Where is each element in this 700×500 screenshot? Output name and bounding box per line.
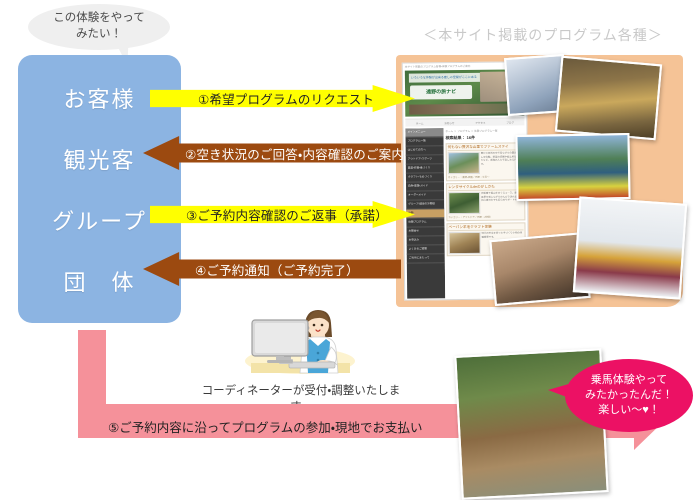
sidebar-item-apply[interactable]: お申込み [407, 236, 445, 245]
sidebar-item-ordermade[interactable]: オーダーメイド [406, 191, 444, 200]
arrow-step-3: ③ご予約内容確認のご返事（承諾） [150, 201, 415, 228]
program-card-thumbnail [448, 152, 480, 174]
customer-label-group: グループ [52, 211, 147, 233]
sidebar-item-contact[interactable]: お問合せ [406, 227, 444, 236]
website-nav-item-access[interactable]: アクセス [475, 120, 485, 124]
arrow-step-2-shape [143, 136, 401, 170]
program-card-thumbnail [449, 232, 481, 254]
joy-speech-bubble: 乗馬体験やって みたかったんだ！ 楽しい〜♥！ [565, 359, 693, 432]
arrow-step-2: ②空き状況のご回答・内容確認のご案内 [143, 136, 401, 170]
sidebar-item-craft[interactable]: クラフト・ものづくり [406, 173, 444, 182]
sidebar-item-farming[interactable]: 農業・収穫・食づくり [406, 164, 444, 173]
arrow-step-1: ①希望プログラムのリクエスト [150, 85, 415, 112]
program-panel-title: ＜本サイト掲載のプログラム各種＞ [400, 25, 686, 45]
website-hero-strip [409, 103, 520, 114]
diagram-canvas: この体験をやって みたい！ お客様 観光客 グループ 団 体 ＜本サイト掲載のプ… [0, 0, 700, 499]
arrow-step-4: ④ご予約通知（ご予約完了） [143, 252, 401, 286]
website-nav-item-blog[interactable]: ブログ [506, 120, 514, 124]
website-result-count: 検索結果： 16件 [446, 134, 525, 141]
joy-bubble-text: 乗馬体験やって みたかったんだ！ 楽しい〜♥！ [585, 373, 673, 418]
sidebar-item-outdoor[interactable]: アウトドア・スポーツ [406, 155, 444, 164]
customer-label-okyakusama: お客様 [63, 89, 135, 111]
website-nav: ホーム お知らせ アクセス ブログ [405, 117, 524, 126]
program-card-title: 何もない贅沢な山里でファームステイ [448, 144, 523, 151]
website-breadcrumb: ホーム ＞ プログラム ＞ 体験プログラム一覧 [445, 128, 524, 133]
arrow-step-3-shape [150, 201, 415, 228]
website-program-card[interactable]: 何もない贅沢な山里でファームステイ 豊かな自然の中で昔ながらの農家暮らしを体験。… [446, 142, 525, 181]
program-card-thumbnail [448, 192, 480, 214]
sidebar-item-program-list[interactable]: プログラム一覧 [406, 137, 444, 146]
sidebar-item-terms[interactable]: ご利用にあたって [407, 254, 445, 263]
sidebar-item-faq[interactable]: よくあるご質問 [407, 245, 445, 254]
website-nav-item-news[interactable]: お知らせ [444, 121, 454, 125]
program-card-meta: カテゴリー：アウトドア／所要：2時間 [448, 214, 523, 219]
program-card-title: ペーパン羊毛クラフト体験 [448, 224, 523, 231]
program-card-title: レンタサイクルdeのがしかた [448, 184, 523, 191]
website-program-card[interactable]: レンタサイクルdeのがしかた 自転車で里山をめぐるコース。季節の風景を感じながら… [446, 182, 525, 221]
arrow-step-1-shape [150, 85, 415, 112]
sidebar-item-menu[interactable]: メインメニュー [405, 128, 443, 137]
customer-label-dantai: 団 体 [63, 272, 135, 294]
program-card-meta: カテゴリー：農業・収穫／所要：半日〜 [448, 174, 523, 179]
photo-potato-digging [555, 56, 662, 141]
customer-bubble-text: この体験をやって みたい！ [53, 11, 144, 42]
sidebar-item-nature[interactable]: 自然・散策・ガイド [406, 182, 444, 191]
arrow-step-4-shape [143, 252, 401, 286]
website-nav-item-home[interactable]: ホーム [416, 121, 424, 125]
customer-speech-bubble: この体験をやって みたい！ [28, 4, 170, 50]
photo-snow-sledding [573, 196, 687, 299]
sidebar-item-getting-started[interactable]: はじめての方へ [406, 146, 444, 155]
photo-kayaking [515, 133, 630, 201]
customer-label-kankokyaku: 観光客 [63, 150, 135, 172]
website-hero-logo: 遠野の旅ナビ [410, 85, 472, 100]
